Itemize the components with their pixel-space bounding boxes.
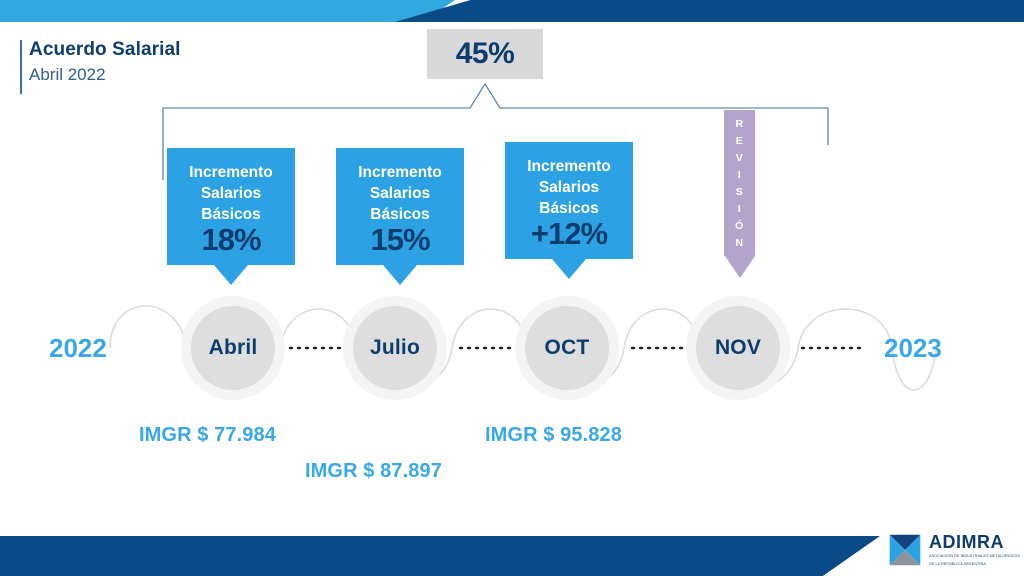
increment-line-1: Incremento <box>527 156 611 177</box>
imgr-label: IMGR $ 95.828 <box>485 424 622 447</box>
increment-line-2: Salarios <box>370 183 430 204</box>
revision-letter: Ó <box>735 218 744 235</box>
adimra-tagline-line-2: DE LA REPÚBLICA ARGENTINA <box>929 562 1020 567</box>
slide-canvas: Acuerdo Salarial Abril 2022 45% Incremen… <box>0 0 1024 576</box>
page-title: Acuerdo Salarial <box>29 38 181 62</box>
revision-marker: R E V I S I Ó N <box>724 110 755 256</box>
top-bar-light-segment <box>0 0 420 22</box>
revision-letter: I <box>738 167 741 184</box>
increment-card: Incremento Salarios Básicos +12% <box>505 142 633 259</box>
timeline-node[interactable]: NOV <box>686 296 790 400</box>
increment-card: Incremento Salarios Básicos 15% <box>336 148 464 265</box>
adimra-mark-icon <box>888 533 922 567</box>
top-accent-bar <box>0 0 1024 22</box>
timeline-node-inner: Abril <box>191 306 275 390</box>
increment-line-1: Incremento <box>189 162 273 183</box>
revision-letter: S <box>736 184 744 201</box>
timeline-node-inner: Julio <box>353 306 437 390</box>
timeline-node-inner: NOV <box>696 306 780 390</box>
adimra-name: ADIMRA <box>929 533 1020 551</box>
revision-letter: V <box>736 150 744 167</box>
timeline-node[interactable]: OCT <box>515 296 619 400</box>
total-increase-value: 45% <box>456 37 515 71</box>
increment-line-1: Incremento <box>358 162 442 183</box>
timeline-node-label: OCT <box>545 336 590 360</box>
timeline-node-label: Abril <box>209 336 258 360</box>
increment-line-2: Salarios <box>201 183 261 204</box>
adimra-tagline-line-1: ASOCIACIÓN DE INDUSTRIALES METALÚRGICOS <box>929 554 1020 559</box>
timeline-node[interactable]: Abril <box>181 296 285 400</box>
increment-percent: 15% <box>370 224 429 256</box>
increment-percent: +12% <box>531 218 607 250</box>
timeline-node[interactable]: Julio <box>343 296 447 400</box>
top-bar-dark-segment <box>395 0 1024 22</box>
increment-card: Incremento Salarios Básicos 18% <box>167 148 295 265</box>
adimra-wordmark: ADIMRA ASOCIACIÓN DE INDUSTRIALES METALÚ… <box>929 533 1020 567</box>
timeline-node-inner: OCT <box>525 306 609 390</box>
timeline-track <box>0 282 1024 417</box>
bottom-bar-dark-segment <box>0 536 880 576</box>
adimra-logo: ADIMRA ASOCIACIÓN DE INDUSTRIALES METALÚ… <box>888 533 1020 567</box>
revision-letter: R <box>735 116 743 133</box>
imgr-label: IMGR $ 77.984 <box>139 424 276 447</box>
increment-line-2: Salarios <box>539 177 599 198</box>
revision-letter: I <box>738 201 741 218</box>
card-pointer <box>552 259 586 279</box>
revision-letter: N <box>735 235 743 252</box>
revision-letter: E <box>736 133 744 150</box>
timeline-year-start: 2022 <box>49 333 107 364</box>
imgr-label: IMGR $ 87.897 <box>305 460 442 483</box>
revision-pointer <box>725 256 755 278</box>
timeline-node-label: Julio <box>370 336 420 360</box>
timeline-node-label: NOV <box>715 336 761 360</box>
increment-percent: 18% <box>201 224 260 256</box>
timeline-year-end: 2023 <box>884 333 942 364</box>
bottom-accent-bar <box>0 536 1024 576</box>
